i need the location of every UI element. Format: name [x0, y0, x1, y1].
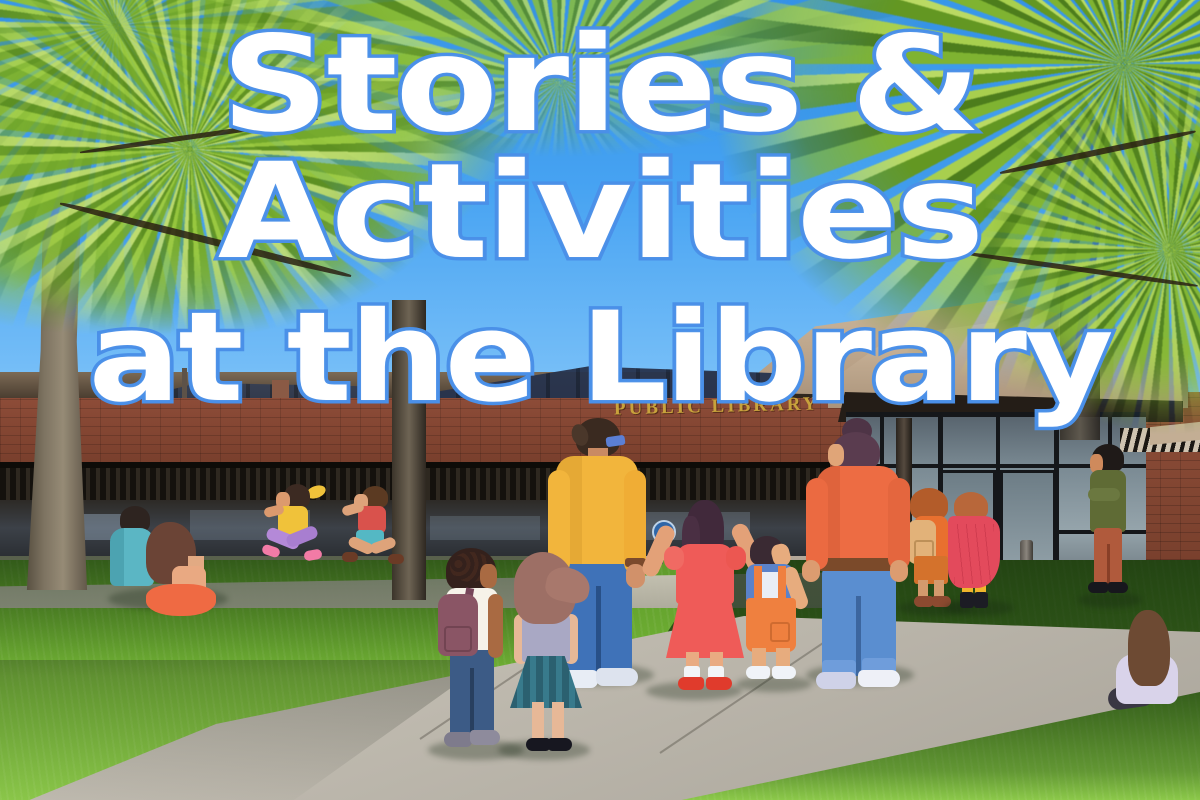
shoe — [1108, 582, 1128, 593]
shoe-left — [526, 738, 550, 751]
leg-gap — [596, 586, 601, 678]
person-runner-yellow — [262, 484, 334, 568]
shoe — [342, 552, 358, 562]
overall-pocket — [770, 622, 790, 642]
person-toddler-overalls — [736, 536, 808, 686]
person-adult-coral-top — [810, 424, 910, 692]
person-sitter-orange — [136, 522, 220, 614]
shoe — [1088, 582, 1108, 593]
backpack-pocket — [444, 626, 472, 652]
sleeve-left — [664, 546, 684, 570]
shoe — [261, 543, 281, 558]
overall-strap — [778, 566, 786, 602]
arm-right — [888, 478, 910, 570]
boot — [974, 592, 988, 608]
face — [480, 564, 497, 588]
shoe-right — [772, 666, 796, 679]
skirt — [666, 596, 744, 658]
shoe-left — [444, 732, 472, 747]
skirt — [146, 584, 216, 616]
shoe-right — [706, 677, 732, 690]
leg-gap — [856, 596, 861, 676]
person-runner-red — [344, 486, 410, 568]
leg-right — [552, 702, 564, 742]
cape-folds — [954, 524, 994, 584]
shoe-right — [858, 670, 900, 687]
person-sitter-lavender — [1108, 610, 1190, 710]
face — [828, 444, 844, 466]
belt — [818, 558, 898, 571]
shoe — [914, 596, 933, 607]
glasses — [605, 435, 625, 448]
hair — [1128, 610, 1170, 686]
shoe-right — [596, 668, 638, 686]
shoe-left — [816, 672, 856, 689]
boot — [960, 592, 974, 608]
shoe-left — [746, 666, 770, 679]
overall-strap — [754, 566, 762, 602]
shoe-right — [548, 738, 572, 751]
leg-gap — [1107, 544, 1110, 586]
library-poster: PUBLIC LIBRARY — [0, 0, 1200, 800]
person-girl-teal-skirt — [500, 552, 592, 760]
folded-arms — [1088, 488, 1120, 501]
shoe-right — [470, 730, 500, 745]
jacket — [1090, 470, 1126, 532]
leg-left — [532, 702, 544, 742]
arm-left — [806, 478, 828, 570]
leg-gap — [470, 668, 474, 738]
shoe — [388, 554, 404, 564]
shoe-left — [678, 677, 704, 690]
person-teen-olive — [1084, 444, 1134, 604]
person-kid-cape — [944, 492, 1006, 612]
torso-shade — [110, 528, 124, 586]
shoe — [303, 549, 322, 562]
hand-right — [890, 560, 908, 582]
